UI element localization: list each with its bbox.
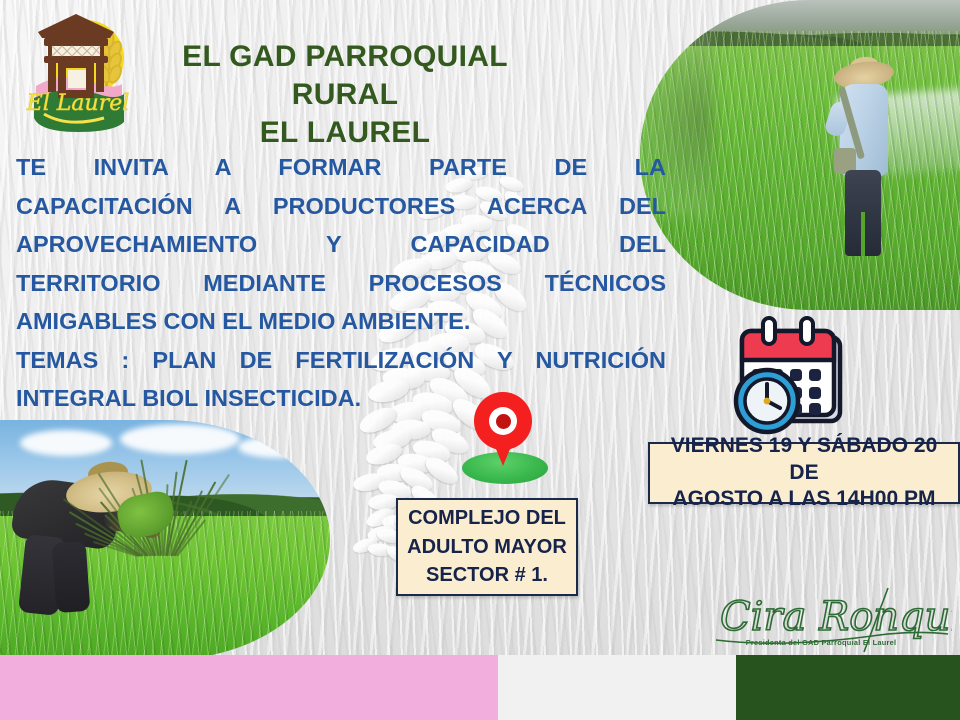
location-line-3: SECTOR # 1. <box>426 564 548 586</box>
body-line-5: AMIGABLES CON EL MEDIO AMBIENTE. <box>16 302 666 341</box>
farmer-figure <box>826 62 906 292</box>
footer-segment-pink <box>0 655 498 720</box>
body-line-3: APROVECHAMIENTO Y CAPACIDAD DEL <box>16 225 666 264</box>
signature-role: Presidenta del GAD Parroquial El Laurel <box>726 638 916 647</box>
farmer-standing-photo <box>640 0 960 310</box>
calendar-clock-icon <box>722 313 850 441</box>
body-line-4: TERRITORIO MEDIANTE PROCESOS TÉCNICOS <box>16 264 666 303</box>
farmer-planting-photo <box>0 420 330 660</box>
invitation-body: TE INVITA A FORMAR PARTE DE LA CAPACITAC… <box>16 148 666 418</box>
body-line-6: TEMAS : PLAN DE FERTILIZACIÓN Y NUTRICIÓ… <box>16 341 666 380</box>
location-info-box: COMPLEJO DEL ADULTO MAYOR SECTOR # 1. <box>396 498 578 596</box>
body-line-1: TE INVITA A FORMAR PARTE DE LA <box>16 148 666 187</box>
title-line-2: EL LAUREL <box>130 114 560 152</box>
schedule-info-box: VIERNES 19 Y SÁBADO 20 DE AGOSTO A LAS 1… <box>648 442 960 504</box>
location-line-1: COMPLEJO DEL <box>408 507 566 529</box>
footer-color-bar <box>0 655 960 720</box>
footer-segment-white <box>498 655 736 720</box>
title-line-1: EL GAD PARROQUIAL RURAL <box>130 38 560 114</box>
poster-canvas: El Laurel EL GAD PARROQUIAL RURAL EL LAU… <box>0 0 960 720</box>
footer-segment-green <box>736 655 960 720</box>
schedule-line-2: AGOSTO A LAS 14H00 PM <box>673 487 936 510</box>
el-laurel-gad-logo: El Laurel <box>18 6 136 138</box>
body-line-2: CAPACITACIÓN A PRODUCTORES ACERCA DEL <box>16 187 666 226</box>
body-line-7: INTEGRAL BIOL INSECTICIDA. <box>16 379 666 418</box>
schedule-line-1: VIERNES 19 Y SÁBADO 20 DE <box>671 434 938 484</box>
location-line-2: ADULTO MAYOR <box>407 536 567 558</box>
map-pin-icon <box>462 392 548 488</box>
poster-title: EL GAD PARROQUIAL RURAL EL LAUREL <box>130 38 560 152</box>
logo-script-line1: El Laurel <box>26 91 130 116</box>
